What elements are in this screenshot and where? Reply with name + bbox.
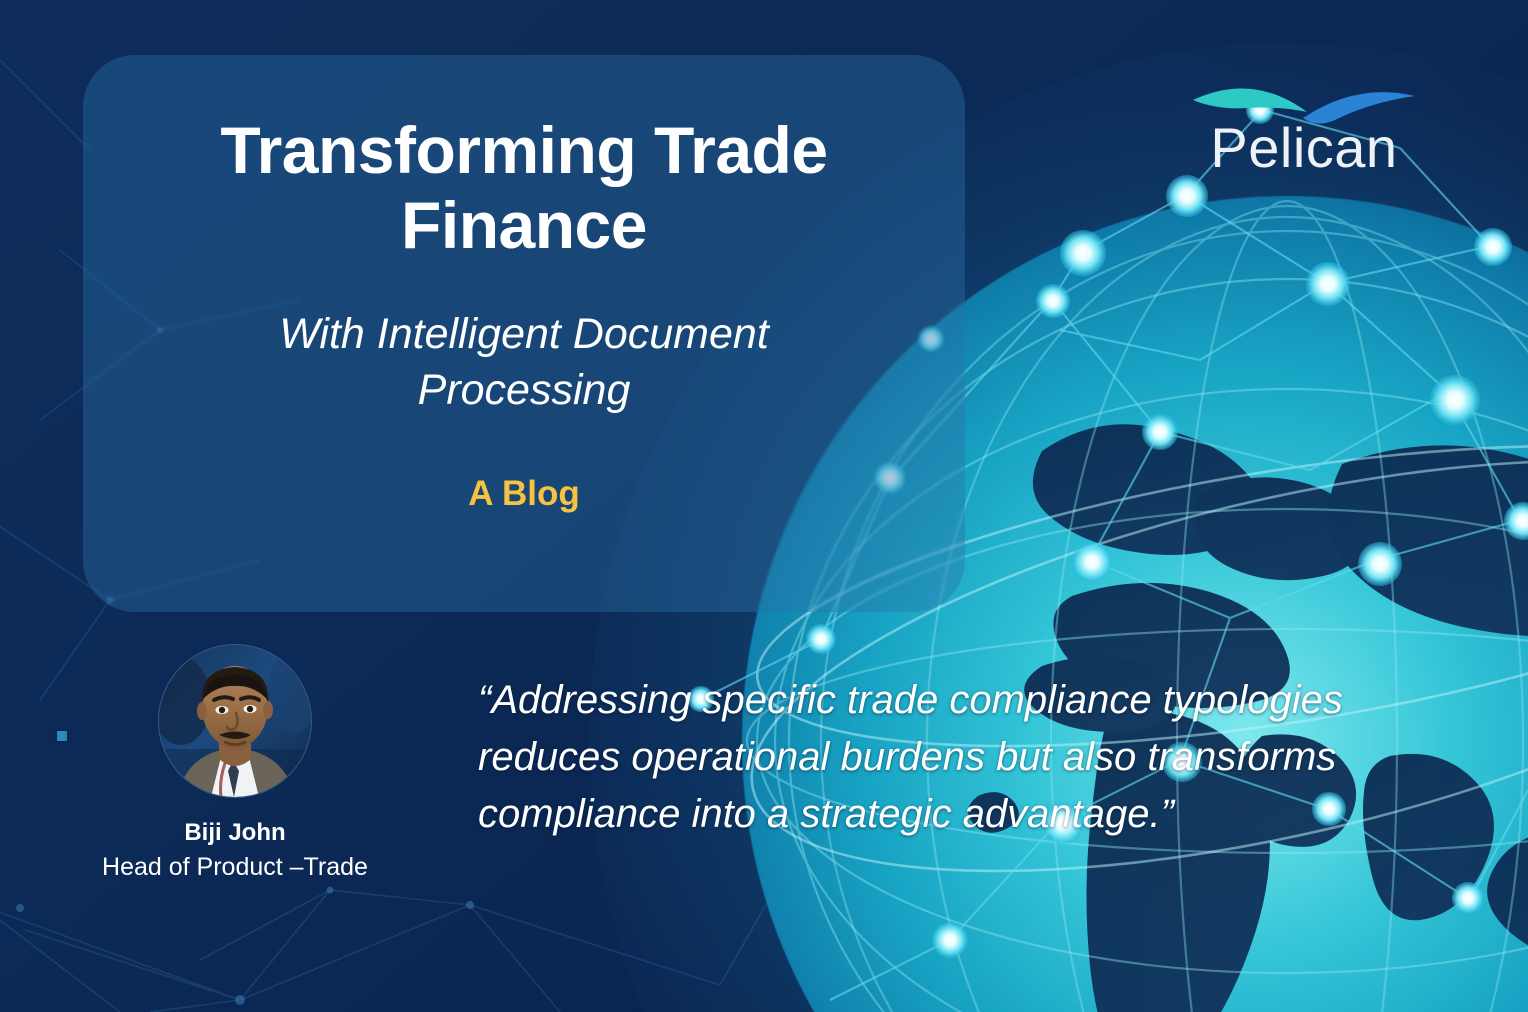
page-title: Transforming Trade Finance [164,113,884,263]
title-card: Transforming Trade Finance With Intellig… [83,55,965,612]
speaker-role: Head of Product –Trade [102,852,368,882]
stray-square-artifact [55,729,69,743]
content-type-badge: A Blog [468,474,579,514]
pelican-wordmark: Pelican [1210,116,1397,177]
avatar [159,645,311,797]
promo-banner: Transforming Trade Finance With Intellig… [0,0,1528,1012]
speaker-block: Biji John Head of Product –Trade [80,645,390,882]
speaker-name: Biji John [184,819,285,848]
pull-quote: “Addressing specific trade compliance ty… [478,672,1398,842]
pelican-logo: Pelican [1175,62,1433,177]
page-subtitle: With Intelligent Document Processing [204,307,844,417]
